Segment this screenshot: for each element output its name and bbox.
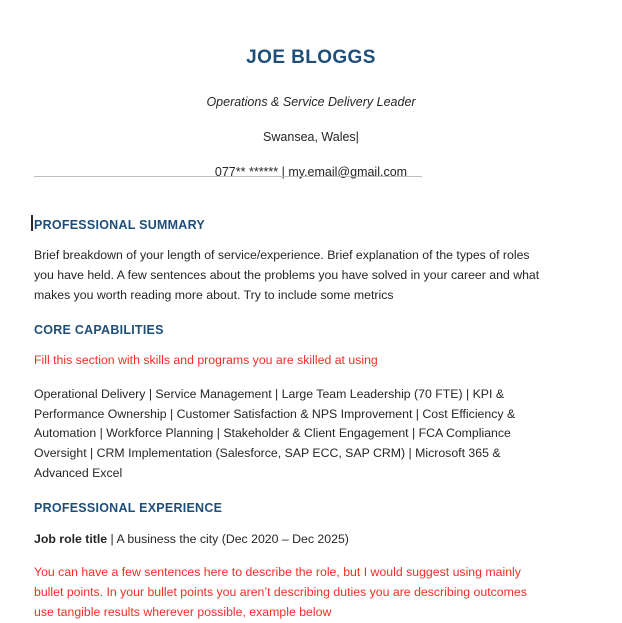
candidate-tagline: Operations & Service Delivery Leader [34, 70, 588, 110]
section-heading-core-capabilities: CORE CAPABILITIES [34, 322, 588, 338]
professional-experience-instruction[interactable]: You can have a few sentences here to des… [34, 550, 548, 623]
candidate-name: JOE BLOGGS [34, 47, 588, 70]
section-heading-professional-experience: PROFESSIONAL EXPERIENCE [34, 500, 588, 516]
document-header: JOE BLOGGS Operations & Service Delivery… [34, 0, 588, 181]
professional-summary-text[interactable]: Brief breakdown of your length of servic… [34, 233, 548, 306]
candidate-location: Swansea, Wales| [34, 110, 588, 145]
job-role-details: A business the city (Dec 2020 – Dec 2025… [116, 532, 348, 546]
text-cursor-caret [31, 215, 33, 231]
section-heading-label: PROFESSIONAL SUMMARY [34, 218, 205, 232]
core-capabilities-instruction[interactable]: Fill this section with skills and progra… [34, 338, 548, 371]
core-capabilities-skills-list[interactable]: Operational Delivery | Service Managemen… [34, 371, 550, 485]
section-heading-professional-summary: PROFESSIONAL SUMMARY [34, 217, 588, 233]
document-body: PROFESSIONAL SUMMARY Brief breakdown of … [34, 181, 588, 623]
job-role-line[interactable]: Job role title | A business the city (De… [34, 516, 588, 550]
job-role-title: Job role title [34, 532, 107, 546]
resume-document: JOE BLOGGS Operations & Service Delivery… [0, 0, 622, 543]
header-divider [34, 176, 422, 177]
